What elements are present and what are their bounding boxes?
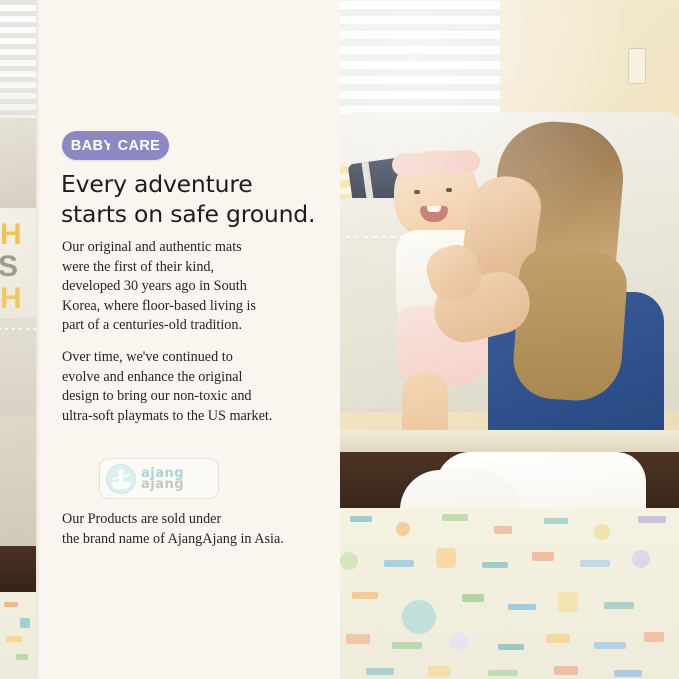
baby-care-logo-text: BABY CARE (71, 138, 161, 154)
ajang-word-line-2: ajang (141, 479, 184, 490)
light-switch (628, 48, 646, 84)
paragraph-asia-brand: Our Products are sold under the brand na… (62, 510, 324, 549)
pillow-letter-3: H (0, 282, 22, 316)
lifestyle-photo (340, 0, 679, 679)
product-lifestyle-image: H S H BABY CARE ™ Every adventure starts… (0, 0, 679, 679)
p3-line-2: the brand name of AjangAjang in Asia. (62, 530, 324, 550)
copy-panel: BABY CARE ™ Every adventure starts on sa… (36, 0, 340, 679)
pillow-letter-2: S (0, 250, 18, 284)
headline-line-2: starts on safe ground. (61, 199, 329, 229)
ajang-ajang-logo-badge: ajang ajang (100, 459, 218, 498)
sofa-seat-lower-left (0, 416, 36, 548)
ajang-wordmark: ajang ajang (141, 468, 184, 490)
paragraph-origin: Our original and authentic mats were the… (62, 238, 324, 336)
playmat (340, 508, 679, 679)
ajang-figure-icon (106, 464, 136, 494)
p2-line-2: evolve and enhance the original (62, 368, 324, 388)
p2-line-1: Over time, we've continued to (62, 348, 324, 368)
p3-line-1: Our Products are sold under (62, 510, 324, 530)
playmat-left (0, 592, 36, 679)
lettered-pillow: H S H (0, 208, 36, 320)
p1-line-2: were the first of their kind, (62, 258, 324, 278)
baby-headband (391, 150, 480, 177)
p1-line-5: part of a centuries-old tradition. (62, 316, 324, 336)
left-photo-strip: H S H (0, 0, 36, 679)
sofa-seat-left (0, 318, 36, 428)
p2-line-3: design to bring our non-toxic and (62, 387, 324, 407)
p1-line-4: Korea, where floor-based living is (62, 297, 324, 317)
paragraph-evolution: Over time, we've continued to evolve and… (62, 348, 324, 426)
trademark-icon: ™ (171, 129, 178, 137)
wood-floor-left (0, 546, 36, 596)
baby-care-logo-badge: BABY CARE ™ (62, 131, 169, 160)
p1-line-1: Our original and authentic mats (62, 238, 324, 258)
page-title: Every adventure starts on safe ground. (61, 169, 329, 229)
baby-eye-left (414, 190, 420, 194)
logo-c-dot-icon (109, 140, 113, 144)
p1-line-3: developed 30 years ago in South (62, 277, 324, 297)
headline-line-1: Every adventure (61, 170, 253, 198)
p2-line-4: ultra-soft playmats to the US market. (62, 407, 324, 427)
mother-hair-lower (511, 246, 629, 403)
baby-eye-right (446, 188, 452, 192)
pillow-letter-1: H (0, 218, 22, 252)
